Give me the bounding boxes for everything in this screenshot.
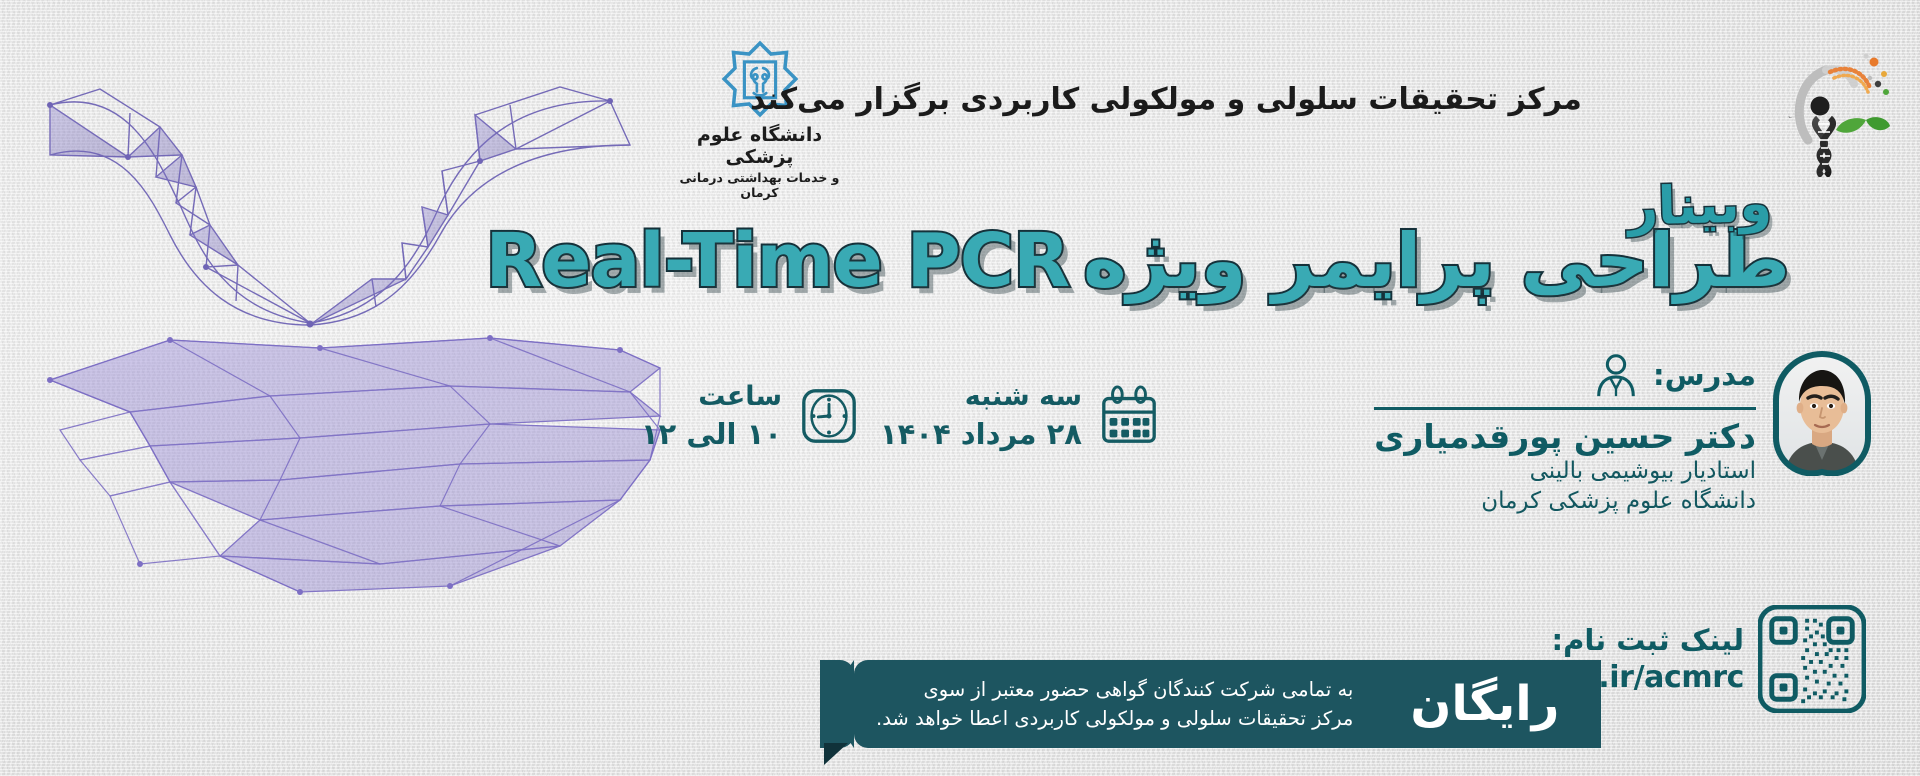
free-badge-label: رایگان: [1392, 680, 1575, 728]
free-banner-line1: به تمامی شرکت کنندگان گواهی حضور معتبر ا…: [924, 678, 1354, 701]
event-time-block: ساعت ۱۰ الی ۱۲: [641, 380, 860, 452]
title-kicker: وبینار: [1628, 178, 1773, 233]
applied-cellular-and-molecular-research-center-logo: Applied Cellular and Molecular Research …: [1778, 22, 1898, 177]
free-certificate-banner: رایگان به تمامی شرکت کنندگان گواهی حضور …: [820, 660, 1601, 748]
clock-icon: [798, 385, 860, 447]
event-time-value: ۱۰ الی ۱۲: [641, 416, 782, 452]
calendar-icon: [1098, 385, 1160, 447]
university-identity-block: دانشگاه علوم پزشکی و خدمات بهداشتی درمان…: [672, 40, 847, 200]
speaker-label: مدرس:: [1653, 358, 1756, 392]
speaker-portrait-photo: [1770, 350, 1874, 476]
registration-label: لینک ثبت نام:: [1417, 623, 1744, 658]
svg-text:Applied Cellular and Molecular: Applied Cellular and Molecular Research …: [1778, 22, 1794, 118]
event-date-value: ۲۸ مرداد ۱۴۰۴: [880, 416, 1082, 452]
speaker-divider: [1374, 407, 1756, 410]
event-weekday: سه شنبه: [880, 380, 1082, 414]
title-main-line: طراحی پرایمر ویژه Real-Time PCR: [570, 224, 1790, 298]
free-banner-body: رایگان به تمامی شرکت کنندگان گواهی حضور …: [854, 660, 1601, 748]
poster-canvas: Applied Cellular and Molecular Research …: [0, 0, 1920, 776]
title-latin: Real-Time PCR: [485, 224, 1069, 298]
low-poly-open-hand-illustration: [20, 320, 720, 610]
free-banner-ribbon-tail: [820, 660, 854, 748]
registration-qr-code[interactable]: [1758, 605, 1866, 713]
instructor-person-icon: [1591, 350, 1641, 400]
poster-title-block: وبینار طراحی پرایمر ویژه Real-Time PCR: [570, 178, 1790, 298]
free-banner-text: به تمامی شرکت کنندگان گواهی حضور معتبر ا…: [854, 675, 1353, 734]
organizer-headline: مرکز تحقیقات سلولی و مولکولی کاربردی برگ…: [750, 82, 1780, 118]
speaker-block: مدرس: دکتر حسین پورقدمیاری استادیار بیوش…: [1314, 350, 1874, 517]
free-banner-line2: مرکز تحقیقات سلولی و مولکولی کاربردی اعط…: [876, 707, 1353, 730]
event-time-label: ساعت: [641, 380, 782, 414]
event-date-block: سه شنبه ۲۸ مرداد ۱۴۰۴: [880, 380, 1160, 452]
university-name-line1: دانشگاه علوم پزشکی: [672, 124, 847, 168]
speaker-affiliation: دانشگاه علوم پزشکی کرمان: [1314, 486, 1874, 516]
